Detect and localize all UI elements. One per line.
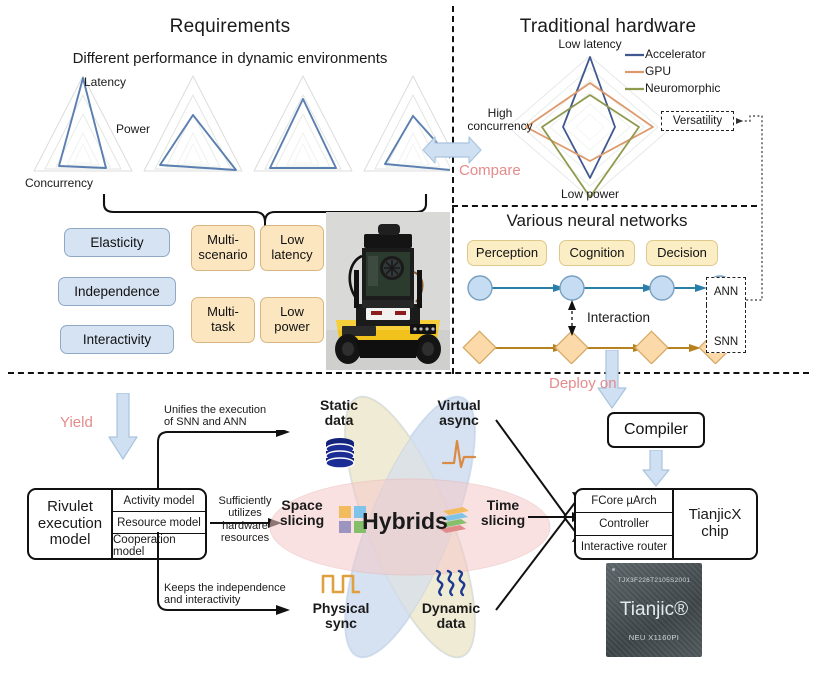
dynamic-data-line2: data bbox=[412, 616, 490, 631]
versatility-label: Versatility bbox=[673, 115, 722, 127]
nn-stage-label-cognition: Cognition bbox=[570, 246, 625, 261]
requirement-box-multi-task[interactable]: Multi- task bbox=[191, 297, 255, 343]
low-power-line1: Low bbox=[280, 305, 304, 320]
snn-label: SNN bbox=[714, 336, 738, 348]
tianjicx-row-fcore-uarch[interactable]: FCore µArch bbox=[576, 490, 672, 513]
snn-label-box: SNN bbox=[706, 305, 746, 353]
neural-networks-title: Various neural networks bbox=[472, 211, 722, 231]
nn-stage-box-perception[interactable]: Perception bbox=[467, 240, 547, 266]
requirement-box-multi-scenario[interactable]: Multi- scenario bbox=[191, 225, 255, 271]
radar-axis-high-concurrency: High concurrency bbox=[465, 107, 535, 134]
high-concurrency-line1: High bbox=[465, 107, 535, 120]
tianjicx-row-controller[interactable]: Controller bbox=[576, 513, 672, 536]
multi-scenario-line1: Multi- bbox=[207, 233, 239, 248]
petal-label-space-slicing: Space slicing bbox=[266, 498, 338, 529]
requirements-subtitle: Different performance in dynamic environ… bbox=[30, 50, 430, 67]
rivulet-title-line1: Rivulet bbox=[38, 499, 102, 516]
nn-stage-box-decision[interactable]: Decision bbox=[646, 240, 718, 266]
requirement-box-low-latency[interactable]: Low latency bbox=[260, 225, 324, 271]
deploy-on-label: Deploy on bbox=[549, 375, 617, 392]
compare-arrow bbox=[421, 135, 483, 165]
space-slicing-line1: Space bbox=[266, 498, 338, 513]
requirement-box-low-power[interactable]: Low power bbox=[260, 297, 324, 343]
divider-horizontal-middle bbox=[8, 372, 809, 374]
compiler-box[interactable]: Compiler bbox=[607, 412, 705, 448]
low-power-line2: power bbox=[274, 320, 309, 335]
requirement-box-elasticity-label: Elasticity bbox=[90, 235, 143, 250]
multi-scenario-line2: scenario bbox=[198, 248, 247, 263]
tianjicx-chip-name: TianjicX chip bbox=[672, 490, 756, 558]
high-concurrency-line2: concurrency bbox=[465, 120, 535, 133]
requirement-box-interactivity-label: Interactivity bbox=[83, 332, 151, 347]
radar-axis-label-latency: Latency bbox=[84, 76, 126, 89]
yield-label: Yield bbox=[60, 414, 93, 431]
spike-waveform-icon bbox=[441, 437, 477, 469]
interaction-label: Interaction bbox=[587, 310, 650, 325]
requirement-box-elasticity[interactable]: Elasticity bbox=[64, 228, 170, 257]
low-latency-line1: Low bbox=[280, 233, 304, 248]
petal-label-dynamic-data: Dynamic data bbox=[412, 601, 490, 632]
space-slicing-line2: slicing bbox=[266, 513, 338, 528]
versatility-box: Versatility bbox=[661, 111, 734, 131]
hybrids-center-label: Hybrids bbox=[350, 508, 460, 535]
tianjicx-name-line2: chip bbox=[689, 524, 742, 541]
compiler-to-chip-arrow bbox=[640, 450, 672, 488]
petal-label-static-data: Static data bbox=[304, 398, 374, 429]
physical-sync-line2: sync bbox=[302, 616, 380, 631]
square-wave-icon bbox=[321, 570, 361, 596]
virtual-async-line1: Virtual bbox=[423, 398, 495, 413]
compiler-label: Compiler bbox=[624, 421, 688, 439]
chip-code-bottom: NEU X1160PI bbox=[606, 633, 702, 642]
robot-photo bbox=[326, 212, 450, 370]
ann-label: ANN bbox=[714, 286, 738, 298]
petal-label-virtual-async: Virtual async bbox=[423, 398, 495, 429]
nn-stage-label-perception: Perception bbox=[476, 246, 538, 261]
divider-horizontal-upper-right bbox=[452, 205, 757, 207]
requirement-box-independence[interactable]: Independence bbox=[58, 277, 176, 306]
static-data-line1: Static bbox=[304, 398, 374, 413]
nn-stage-box-cognition[interactable]: Cognition bbox=[559, 240, 635, 266]
radar-axis-label-concurrency: Concurrency bbox=[25, 177, 93, 190]
requirement-box-interactivity[interactable]: Interactivity bbox=[60, 325, 174, 354]
petal-label-physical-sync: Physical sync bbox=[302, 601, 380, 632]
legend-label-neuromorphic: Neuromorphic bbox=[645, 82, 720, 95]
rivulet-title-line2: execution bbox=[38, 516, 102, 533]
wavy-lines-icon bbox=[431, 568, 471, 598]
legend-label-gpu: GPU bbox=[645, 65, 671, 78]
nn-stage-label-decision: Decision bbox=[657, 246, 707, 261]
tianjic-chip-photo: TJX3F226T2105S2001 Tianjic® NEU X1160PI bbox=[606, 563, 702, 657]
requirements-title: Requirements bbox=[110, 16, 350, 38]
tianjicx-rows: FCore µArch Controller Interactive route… bbox=[576, 490, 672, 558]
ann-label-box: ANN bbox=[706, 277, 746, 305]
database-icon bbox=[323, 437, 357, 469]
chip-brand-label: Tianjic® bbox=[606, 599, 702, 621]
dynamic-data-line1: Dynamic bbox=[412, 601, 490, 616]
tianjicx-row-interactive-router[interactable]: Interactive router bbox=[576, 536, 672, 558]
rivulet-execution-model-title: Rivulet execution model bbox=[29, 490, 111, 558]
rivulet-title-line3: model bbox=[38, 532, 102, 549]
physical-sync-line1: Physical bbox=[302, 601, 380, 616]
radar-axis-low-power: Low power bbox=[540, 188, 640, 201]
venn-to-chip-connectors bbox=[492, 418, 584, 618]
chip-code-top: TJX3F226T2105S2001 bbox=[606, 577, 702, 584]
traditional-hardware-title: Traditional hardware bbox=[488, 16, 728, 38]
multi-task-line2: task bbox=[211, 320, 235, 335]
static-data-line2: data bbox=[304, 413, 374, 428]
chip-orientation-dot bbox=[612, 568, 615, 571]
radar-axis-label-power: Power bbox=[116, 123, 150, 136]
tianjicx-chip-box[interactable]: FCore µArch Controller Interactive route… bbox=[574, 488, 758, 560]
legend-label-accelerator: Accelerator bbox=[645, 48, 706, 61]
divider-vertical-top bbox=[452, 6, 454, 374]
multi-task-line1: Multi- bbox=[207, 305, 239, 320]
virtual-async-line2: async bbox=[423, 413, 495, 428]
low-latency-line2: latency bbox=[271, 248, 312, 263]
requirement-box-independence-label: Independence bbox=[74, 284, 160, 299]
traditional-hardware-legend-lines bbox=[624, 48, 646, 98]
tianjicx-name-line1: TianjicX bbox=[689, 507, 742, 524]
